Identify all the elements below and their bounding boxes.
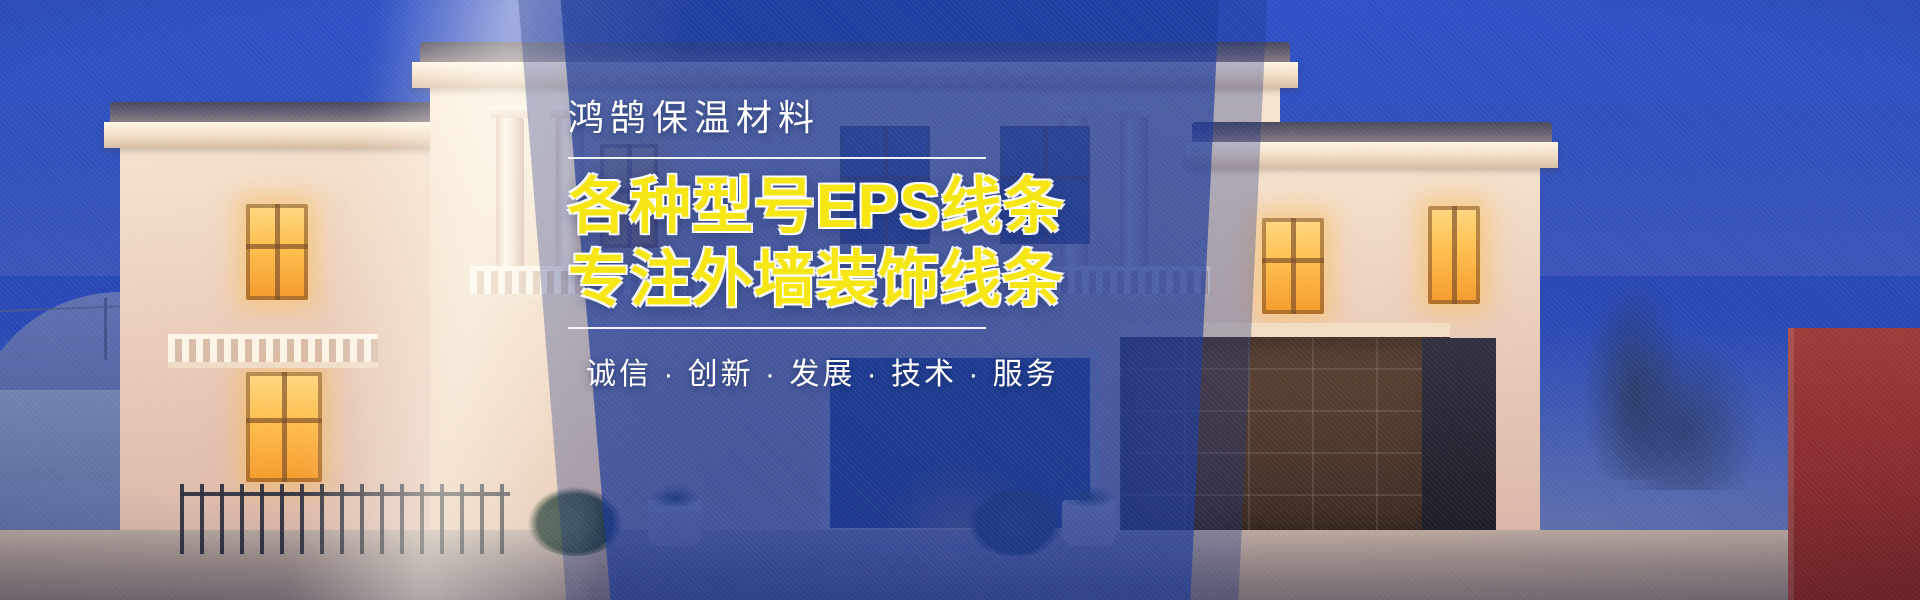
tagline: 诚信 · 创新 · 发展 · 技术 · 服务 xyxy=(568,349,1008,393)
garage-door xyxy=(1120,323,1450,538)
headline-line-1: 各种型号EPS线条 xyxy=(568,171,1008,242)
column-1 xyxy=(496,118,524,268)
planter-left xyxy=(648,500,702,546)
divider-top xyxy=(568,157,986,159)
balustrade-left xyxy=(168,334,378,368)
planter-right xyxy=(1062,500,1116,546)
cornice-right xyxy=(1186,142,1558,168)
window-left-lower xyxy=(246,372,322,482)
cornice-center xyxy=(412,62,1298,88)
divider-bottom xyxy=(568,327,986,329)
roof-center xyxy=(420,42,1290,62)
banner-content: 鸿鹄保温材料 各种型号EPS线条 专注外墙装饰线条 诚信 · 创新 · 发展 ·… xyxy=(568,96,1008,393)
cornice-left xyxy=(104,122,476,148)
roof-left xyxy=(110,102,470,122)
column-4 xyxy=(1120,118,1148,268)
hero-banner: 鸿鹄保温材料 各种型号EPS线条 专注外墙装饰线条 诚信 · 创新 · 发展 ·… xyxy=(0,0,1920,600)
window-right-upper-2 xyxy=(1428,206,1480,304)
window-right-upper xyxy=(1262,218,1324,314)
headline-line-2: 专注外墙装饰线条 xyxy=(568,244,1008,315)
red-wall-panel xyxy=(1788,328,1920,600)
brand-name: 鸿鹄保温材料 xyxy=(568,96,1008,139)
iron-fence xyxy=(180,484,510,554)
window-left-upper xyxy=(246,204,308,300)
side-door-opening xyxy=(1422,338,1496,538)
shrub-left xyxy=(520,478,630,556)
roof-right xyxy=(1192,122,1552,142)
